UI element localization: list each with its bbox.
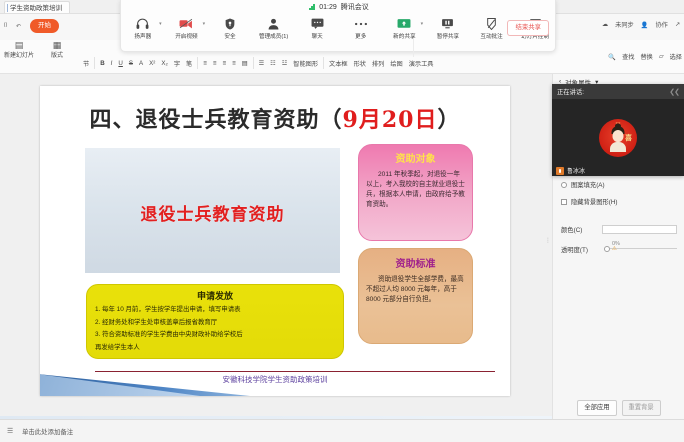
video-off-icon (165, 16, 209, 31)
arrange-button[interactable]: 排列 (369, 55, 387, 71)
align-center-icon[interactable]: ≡ (210, 55, 220, 71)
speaking-now-label: 正在讲话: (557, 87, 584, 96)
select-label[interactable]: 选择 (670, 52, 682, 61)
meeting-button-video[interactable]: 开启视频 ▾ (165, 15, 209, 40)
yellow-box-title: 申请发放 (87, 285, 343, 302)
option-hide-background[interactable]: 隐藏背景图形(H) (553, 193, 684, 210)
meeting-button-participants[interactable]: 管理成员(1) (252, 15, 296, 40)
slide-title-tail: ） (437, 107, 460, 133)
speaker-name-row: 鲁冰冰 (552, 165, 589, 176)
shape-button[interactable]: 形状 (351, 55, 369, 71)
number-list-icon[interactable]: ☷ (267, 55, 279, 71)
option-pattern-fill[interactable]: 图案填充(A) (553, 176, 684, 193)
meeting-timer: 01:29 (319, 4, 337, 11)
object-properties-footer: 全部应用 重置背景 (553, 397, 684, 419)
yellow-box-line-4: 再发给学生本人 (87, 340, 343, 353)
subscript-button[interactable]: X₂ (158, 55, 171, 71)
draw-button[interactable]: 绘图 (387, 55, 405, 71)
notes-splitter[interactable] (0, 416, 552, 419)
meeting-label-new-share: 新的共享 (383, 32, 427, 40)
chevron-down-icon[interactable]: ▾ (421, 21, 424, 27)
section-button[interactable]: 节 (80, 55, 92, 71)
align-justify-icon[interactable]: ≡ (229, 55, 239, 71)
speaker-video-stage: 囍 喜 鲁冰冰 (552, 99, 684, 176)
notes-icon: ☰ (7, 427, 13, 435)
meeting-label-speaker: 扬声器 (121, 32, 165, 40)
slide-title-main: 四、退役士兵教育资助（ (90, 107, 343, 133)
save-icon[interactable]: ⌷ (4, 23, 8, 30)
yellow-box-line-2: 2. 经财务处和学生处审核盖章后报省教育厅 (87, 315, 343, 328)
pause-icon (426, 16, 470, 31)
select-icon[interactable]: ▱ (659, 53, 664, 60)
slide-surface[interactable]: 四、退役士兵教育资助（9月20日） 退役士兵教育资助 资助对象 2011 年秋季… (40, 86, 510, 396)
checkbox-icon[interactable] (561, 199, 567, 205)
meeting-label-chat: 聊天 (295, 32, 339, 40)
meeting-button-chat[interactable]: 聊天 (295, 15, 339, 40)
slider-knob[interactable] (604, 246, 610, 252)
avatar-side-text: 喜 (625, 133, 632, 143)
slide-title-date: 9月20日 (343, 107, 438, 133)
option-hide-background-label: 隐藏背景图形(H) (571, 197, 618, 206)
reset-background-button[interactable]: 重置背景 (622, 400, 661, 416)
pink-box-title: 资助对象 (359, 145, 472, 165)
orange-box-title: 资助标准 (359, 249, 472, 270)
tencent-meeting-toolbar: 01:29 腾讯会议 扬声器 ▾ 开启视频 ▾ (120, 0, 556, 52)
ribbon-divider-2 (197, 57, 198, 69)
ribbon-tabs-right-group: ☁ 未同步 👤 协作 ↗ (602, 20, 680, 29)
pink-box-body: 2011 年秋季起，对退役一年以上，考入我校的自主就业退役士兵，根据本人申请，由… (359, 165, 472, 210)
replace-label[interactable]: 替换 (640, 52, 652, 61)
more-dots-icon (339, 16, 383, 31)
wps-presentation-window: 学生资助政策培训 ⌷ ↶ 开始 ☁ 未同步 👤 协作 ↗ ▤ 新建幻灯片 ▦ 版… (0, 0, 684, 442)
pink-content-box[interactable]: 资助对象 2011 年秋季起，对退役一年以上，考入我校的自主就业退役士兵，根据本… (358, 144, 473, 241)
ribbon-format-group: 节 B I U S A X² X₂ 字 笔 ≡ ≡ ≡ ≡ ▤ ☰ ☷ ☳ 智能… (0, 54, 684, 72)
transparency-label: 透明度(T) (561, 245, 597, 254)
speaker-name: 鲁冰冰 (567, 166, 585, 175)
headset-icon (121, 16, 165, 31)
orange-content-box[interactable]: 资助标准 资助退役学生全部学费，最高不超过人均 8000 元每年，高于 8000… (358, 248, 473, 344)
splitter-handle-dots[interactable]: ⋮ (545, 240, 551, 243)
align-left-icon[interactable]: ≡ (200, 55, 210, 71)
layout-icon: ▦ (40, 40, 74, 50)
tab-start[interactable]: 开始 (30, 19, 59, 33)
transparency-slider[interactable]: 0% ⚠ (602, 244, 677, 254)
ribbon-divider-1 (94, 57, 95, 69)
meeting-toolbar-items: 扬声器 ▾ 开启视频 ▾ 安全 管理成员(1) (121, 15, 557, 52)
meeting-button-security[interactable]: 安全 (208, 15, 252, 40)
bold-button[interactable]: B (97, 55, 107, 71)
strikethrough-button[interactable]: S (126, 55, 136, 71)
underline-button[interactable]: U (115, 55, 125, 71)
chevron-down-icon[interactable]: ▾ (203, 21, 206, 27)
meeting-label-participants: 管理成员(1) (252, 32, 296, 40)
microphone-icon (556, 167, 564, 175)
orange-box-body: 资助退役学生全部学费，最高不超过人均 8000 元每年，高于 8000 元部分自… (359, 270, 472, 305)
bullet-list-icon[interactable]: ☰ (256, 55, 268, 71)
warning-icon: ⚠ (612, 246, 617, 252)
soldiers-photo[interactable]: 退役士兵教育资助 (85, 148, 340, 273)
meeting-label-security: 安全 (208, 32, 252, 40)
meeting-button-speaker[interactable]: 扬声器 ▾ (121, 15, 165, 40)
speaker-video-header: 正在讲话: ❮❮ (552, 84, 684, 99)
share-icon[interactable]: ↗ (675, 21, 680, 28)
meeting-app-name: 腾讯会议 (341, 2, 369, 12)
yellow-box-line-3: 3. 符合资助标准的学生学费由中央财政补助给学校后 (87, 327, 343, 340)
search-icon[interactable]: 🔍 (608, 53, 616, 61)
yellow-content-box[interactable]: 申请发放 1. 每年 10 月前，学生按学年提出申请，填写申请表 2. 经财务处… (86, 284, 344, 359)
meeting-button-new-share[interactable]: 新的共享 ▾ (383, 15, 427, 40)
meeting-header: 01:29 腾讯会议 (121, 0, 557, 14)
font-color-button[interactable]: A (136, 55, 146, 71)
color-field[interactable]: 颜色(C) (553, 220, 684, 239)
document-tab[interactable]: 学生资助政策培训 (4, 1, 70, 13)
slide-title[interactable]: 四、退役士兵教育资助（9月20日） (40, 102, 510, 134)
align-distribute-icon[interactable]: ▤ (239, 55, 251, 71)
italic-button[interactable]: I (108, 55, 116, 71)
meeting-label-more: 更多 (339, 32, 383, 40)
new-slide-icon: ▤ (2, 40, 36, 50)
notes-placeholder[interactable]: 单击此处添加备注 (22, 427, 73, 436)
color-label: 颜色(C) (561, 225, 597, 234)
participants-icon (252, 16, 296, 31)
shield-icon (208, 16, 252, 31)
find-label[interactable]: 查找 (622, 52, 634, 61)
signal-bars-icon (309, 4, 315, 10)
chevron-collapse-icon[interactable]: ❮❮ (669, 88, 679, 96)
sync-status-label[interactable]: 未同步 (615, 20, 634, 29)
smart-graphic-button[interactable]: 智能图形 (290, 55, 321, 71)
footer-rule (95, 371, 495, 372)
highlight-button[interactable]: 笔 (183, 55, 195, 71)
ribbon-divider-4 (323, 57, 324, 69)
slide-canvas-area: 四、退役士兵教育资助（9月20日） 退役士兵教育资助 资助对象 2011 年秋季… (0, 74, 552, 419)
align-right-icon[interactable]: ≡ (219, 55, 229, 71)
collaborate-icon[interactable]: 👤 (641, 21, 649, 29)
meeting-label-video: 开启视频 (165, 32, 209, 40)
superscript-button[interactable]: X² (146, 55, 158, 71)
textbox-button[interactable]: 文本框 (326, 55, 351, 71)
option-pattern-fill-label: 图案填充(A) (571, 180, 605, 189)
indent-icon[interactable]: ☳ (279, 55, 291, 71)
apply-all-button[interactable]: 全部应用 (577, 400, 616, 416)
share-screen-icon (383, 16, 427, 31)
text-effect-button[interactable]: 字 (171, 55, 183, 71)
status-bar: ☰ 单击此处添加备注 (0, 419, 684, 442)
panel-gap (553, 210, 684, 220)
collaborate-label[interactable]: 协作 (655, 20, 667, 29)
avatar: 囍 喜 (599, 119, 637, 157)
slider-track (610, 248, 677, 249)
presentation-tools-button[interactable]: 演示工具 (406, 55, 437, 71)
radio-icon[interactable] (561, 182, 567, 188)
ribbon-right-group: 🔍 查找 替换 ▱ 选择 (608, 52, 682, 61)
meeting-button-pause-share[interactable]: 暂停共享 (426, 15, 470, 40)
meeting-button-more[interactable]: 更多 (339, 15, 383, 40)
undo-icon[interactable]: ↶ (16, 23, 21, 30)
meeting-label-pause-share: 暂停共享 (426, 32, 470, 40)
end-share-button[interactable]: 结束共享 (507, 20, 549, 36)
speaker-video-card[interactable]: 正在讲话: ❮❮ 囍 喜 鲁冰冰 (552, 84, 684, 176)
chat-icon (295, 16, 339, 31)
ribbon-divider-3 (253, 57, 254, 69)
transparency-field[interactable]: 透明度(T) 0% ⚠ (553, 239, 684, 259)
color-swatch[interactable] (602, 225, 677, 234)
photo-overlay-text[interactable]: 退役士兵教育资助 (85, 200, 340, 225)
cloud-sync-icon[interactable]: ☁ (602, 21, 608, 28)
chevron-down-icon[interactable]: ▾ (159, 21, 162, 27)
yellow-box-line-1: 1. 每年 10 月前，学生按学年提出申请，填写申请表 (87, 302, 343, 315)
